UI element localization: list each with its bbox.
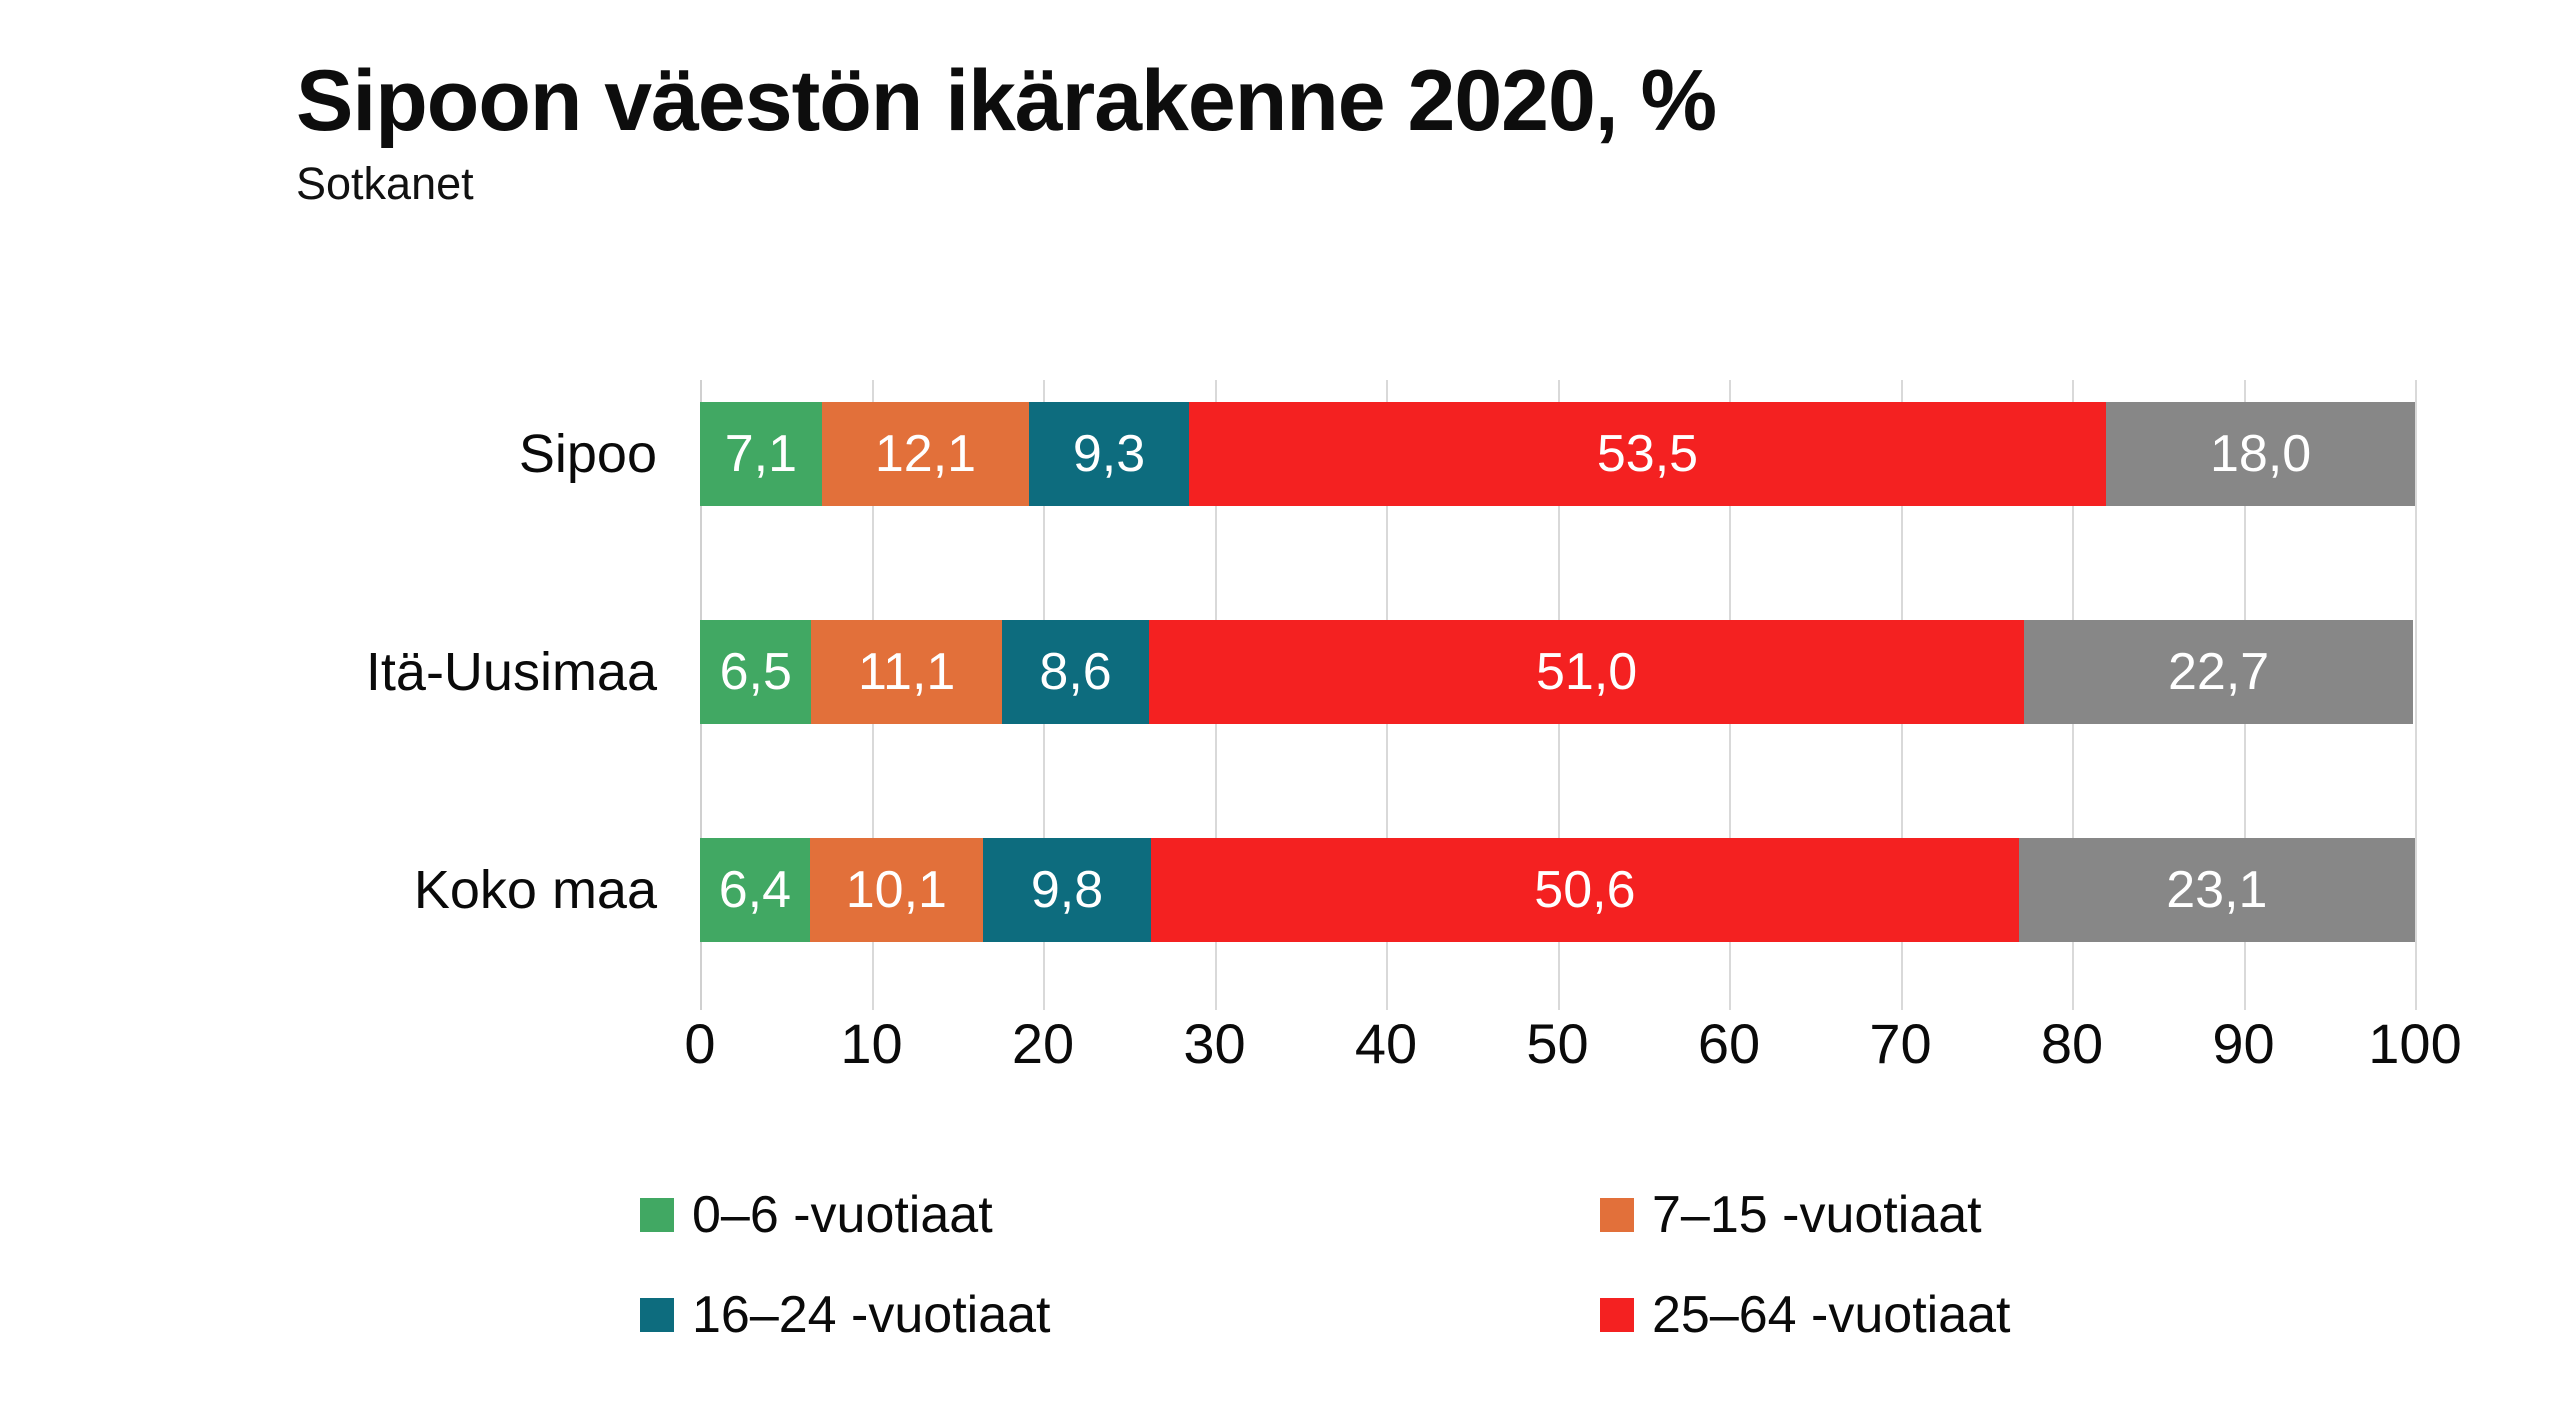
x-tick-label-70: 70	[1869, 1016, 1931, 1072]
legend-label: 16–24 -vuotiaat	[692, 1289, 1051, 1341]
bar-segment[interactable]: 9,3	[1029, 402, 1188, 506]
bar-segment[interactable]: 23,1	[2019, 838, 2415, 942]
legend-item[interactable]: 25–64 -vuotiaat	[1600, 1280, 2011, 1350]
bar-segment-value: 12,1	[875, 428, 976, 480]
x-tick-label-40: 40	[1355, 1016, 1417, 1072]
x-tick-label-90: 90	[2212, 1016, 2274, 1072]
legend-item[interactable]: 7–15 -vuotiaat	[1600, 1180, 1982, 1250]
category-axis: SipooItä-UusimaaKoko maa	[260, 380, 685, 1010]
bar-segment[interactable]: 18,0	[2106, 402, 2415, 506]
x-axis: 0102030405060708090100	[700, 1016, 2415, 1106]
bar-segment[interactable]: 22,7	[2024, 620, 2413, 724]
x-tick-label-20: 20	[1012, 1016, 1074, 1072]
bar-segment[interactable]: 11,1	[811, 620, 1001, 724]
bar-segment[interactable]: 7,1	[700, 402, 822, 506]
x-tick-label-60: 60	[1698, 1016, 1760, 1072]
bar-segment[interactable]: 6,5	[700, 620, 811, 724]
bar-row: 6,410,19,850,623,1	[700, 838, 2415, 942]
bar-row: 7,112,19,353,518,0	[700, 402, 2415, 506]
x-tick-label-10: 10	[840, 1016, 902, 1072]
x-tick-label-50: 50	[1526, 1016, 1588, 1072]
bar-segment-value: 11,1	[858, 646, 955, 698]
legend-swatch-icon	[1600, 1198, 1634, 1232]
legend-label: 0–6 -vuotiaat	[692, 1189, 993, 1241]
bar-segment-value: 9,3	[1073, 428, 1145, 480]
legend-item[interactable]: 0–6 -vuotiaat	[640, 1180, 993, 1250]
bar-segment-value: 18,0	[2210, 428, 2311, 480]
bar-segment-value: 10,1	[846, 864, 947, 916]
legend-label: 25–64 -vuotiaat	[1652, 1289, 2011, 1341]
bar-segment-value: 23,1	[2166, 864, 2267, 916]
bar-segment-value: 9,8	[1031, 864, 1103, 916]
chart-plot-wrapper: SipooItä-UusimaaKoko maa 7,112,19,353,51…	[0, 0, 2560, 1409]
bar-segment-value: 6,5	[720, 646, 792, 698]
bar-segment[interactable]: 51,0	[1149, 620, 2024, 724]
bar-segment[interactable]: 9,8	[983, 838, 1151, 942]
legend-swatch-icon	[640, 1198, 674, 1232]
x-tick-label-0: 0	[684, 1016, 715, 1072]
bar-segment-value: 6,4	[719, 864, 791, 916]
x-tick-label-100: 100	[2368, 1016, 2461, 1072]
bar-segment[interactable]: 53,5	[1189, 402, 2107, 506]
bar-segment-value: 51,0	[1536, 646, 1637, 698]
category-label-1: Sipoo	[257, 427, 657, 481]
chart-legend: 0–6 -vuotiaat7–15 -vuotiaat16–24 -vuotia…	[640, 1180, 2340, 1370]
bar-segment[interactable]: 10,1	[810, 838, 983, 942]
category-label-2: Itä-Uusimaa	[257, 645, 657, 699]
bar-segment-value: 7,1	[725, 428, 797, 480]
bar-segment-value: 53,5	[1597, 428, 1698, 480]
bar-segment[interactable]: 6,4	[700, 838, 810, 942]
x-tick-label-30: 30	[1183, 1016, 1245, 1072]
category-label-3: Koko maa	[257, 863, 657, 917]
legend-swatch-icon	[640, 1298, 674, 1332]
plot-area: 7,112,19,353,518,06,511,18,651,022,76,41…	[700, 380, 2415, 1010]
gridline-100	[2415, 380, 2417, 1010]
bar-segment-value: 22,7	[2168, 646, 2269, 698]
x-tick-label-80: 80	[2041, 1016, 2103, 1072]
bar-row: 6,511,18,651,022,7	[700, 620, 2415, 724]
legend-swatch-icon	[1600, 1298, 1634, 1332]
bar-segment[interactable]: 50,6	[1151, 838, 2019, 942]
bar-segment-value: 50,6	[1534, 864, 1635, 916]
bar-segment[interactable]: 12,1	[822, 402, 1030, 506]
bar-segment[interactable]: 8,6	[1002, 620, 1149, 724]
legend-label: 7–15 -vuotiaat	[1652, 1189, 1982, 1241]
bar-segment-value: 8,6	[1039, 646, 1111, 698]
legend-item[interactable]: 16–24 -vuotiaat	[640, 1280, 1051, 1350]
